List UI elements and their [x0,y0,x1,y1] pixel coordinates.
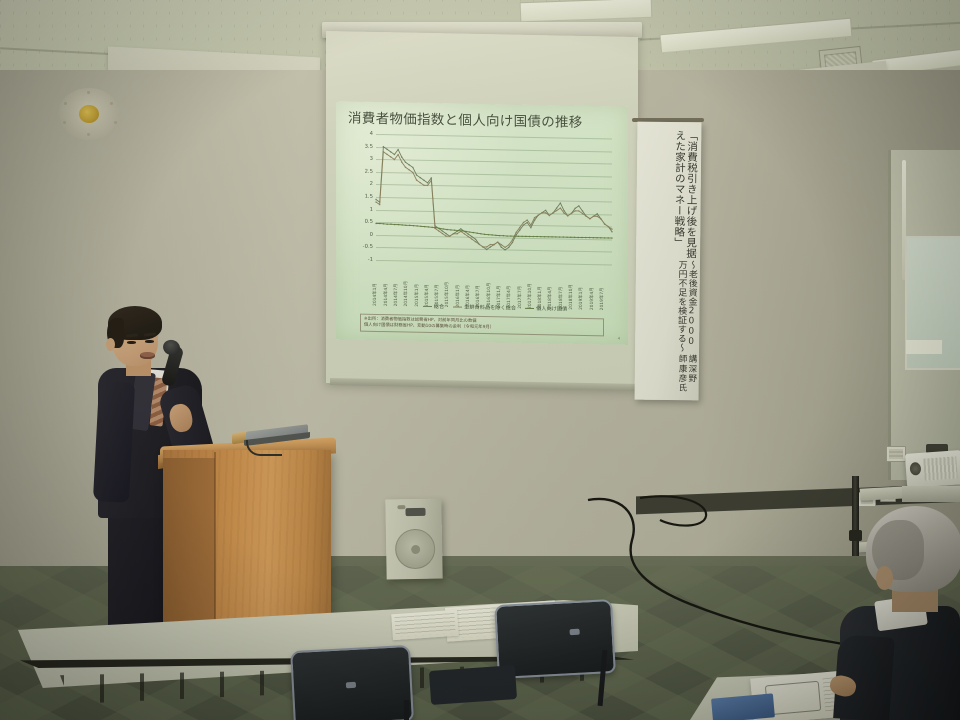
chart-marker [423,184,425,186]
chart-marker [607,237,609,239]
chart-marker [442,230,444,232]
chart-marker [390,151,392,153]
banner-speaker-name: 深野 康彦氏 [638,364,696,395]
chart-marker [413,225,415,227]
event-banner: 「消費税引き上げ後を見据えた家計のマネー戦略」 〜老後資金2000万円不足を検証… [635,122,702,401]
chart-y-tick-label: 0.5 [365,219,373,225]
chart-marker [471,238,473,240]
chart-marker [467,233,469,235]
chart-marker [480,233,482,235]
handout-paper[interactable] [391,610,459,641]
chart-marker [491,234,493,236]
chart-marker [419,177,421,179]
chart-marker [611,228,613,230]
wall-clock [58,88,120,140]
chart-y-tick-label: 2.5 [365,169,373,175]
legend-swatch [453,306,462,308]
door-sign [906,340,942,354]
projector-lens [910,462,922,476]
chart-marker [469,231,471,233]
chart-marker [473,232,475,234]
pa-speaker-handle [397,505,405,509]
clock-face [79,105,99,123]
audience-member-ear [876,566,893,590]
chart-marker [379,223,381,225]
pa-speaker-port [405,508,425,516]
chart-marker [510,235,512,237]
projector-vents [923,456,957,480]
chart-marker [383,146,385,148]
chart-line-個人向け国債 [376,223,612,238]
chart-marker [420,225,422,227]
chart-marker [431,226,433,228]
chart-legend-item: 個人向け国債 [525,305,567,313]
wall-outlet[interactable] [886,446,906,462]
chart-marker [412,167,414,169]
banner-text-block: 「消費税引き上げ後を見据えた家計のマネー戦略」 〜老後資金2000万円不足を検証… [635,122,702,401]
legend-label: 個人向け国債 [536,305,567,313]
chart-marker [521,235,523,237]
chart-marker [604,237,606,239]
banner-speaker-label: 講師 [638,354,696,365]
legend-swatch [525,308,534,310]
projector-stand [902,486,960,502]
chart-marker [566,236,568,238]
chart-marker [416,179,418,181]
chart-y-tick-label: 3 [370,156,373,162]
chart-legend-item: 総合 [423,303,444,310]
chart-marker [600,218,602,220]
chart-marker [482,246,484,248]
chart-marker [438,230,440,232]
chart-marker [582,213,584,215]
chart-marker [585,237,587,239]
chart-marker [405,166,407,168]
chart-marker [495,234,497,236]
chart-plot-area: -1-0.500.511.522.533.54 [376,134,612,265]
chart-y-tick-label: 3.5 [365,143,373,149]
chart-marker [600,237,602,239]
chart-marker [416,174,418,176]
legend-label: 総合 [434,303,444,310]
chart-marker [475,238,477,240]
chart-marker [529,236,531,238]
presenter-eye [145,340,154,343]
chart-marker [582,210,584,212]
chart-marker [428,226,430,228]
chart-marker [518,235,520,237]
chart-marker [424,226,426,228]
chart-marker [423,179,425,181]
chart-marker [577,237,579,239]
chart-marker [401,224,403,226]
chair-label [346,682,356,689]
chart-marker [501,246,503,248]
seminar-room-photo: 消費者物価指数と個人向け国債の推移 -1-0.500.511.522.533.5… [0,0,960,720]
chart-y-tick-label: 1.5 [365,194,373,200]
projected-slide: 消費者物価指数と個人向け国債の推移 -1-0.500.511.522.533.5… [336,101,628,345]
chart-marker [412,172,414,174]
chart-marker [401,161,403,163]
legend-swatch [423,306,432,308]
chart-marker [533,236,535,238]
chart-marker [375,223,377,225]
chair-label [570,629,580,636]
chart-marker [476,232,478,234]
chart-marker [408,169,410,171]
chart-legend-item: 生鮮食料品を除く総合 [453,303,516,311]
chart-marker [390,223,392,225]
chart-marker [386,154,388,156]
chart-marker [555,236,557,238]
chart-marker [604,223,606,225]
chart-marker [484,234,486,236]
chart-marker [499,235,501,237]
banner-headline: 「消費税引き上げ後を見据えた家計のマネー戦略」 [639,130,698,260]
floor-cable [580,492,880,682]
chart-marker [390,156,392,158]
pa-speaker-cone [395,529,436,570]
chart-marker [608,226,610,228]
chart-marker [454,229,456,231]
microphone-cable [246,440,282,456]
paper-text-lines [394,613,455,637]
chart-marker [540,236,542,238]
chart-marker [386,223,388,225]
chart-series-layer [376,134,612,265]
presenter-eye [127,341,136,344]
chart-marker [559,236,561,238]
chart-marker [445,235,447,237]
chart-marker [548,236,550,238]
chart-x-tick-label: 2014年1月 [372,283,378,306]
chart-y-tick-label: 2 [370,181,373,187]
chart-marker [409,225,411,227]
chart-marker [443,228,445,230]
chart-marker [544,236,546,238]
chart-marker [446,229,448,231]
chart-marker [445,233,447,235]
chart-marker [574,237,576,239]
chart-marker [383,223,385,225]
slide-source-note: ※出所：消費者物価指数は総務省HP、対前年同月比の数値 個人向け国債は財務省HP… [360,314,604,337]
chart-y-tick-label: 4 [370,131,373,137]
chart-marker [611,237,613,239]
pa-speaker-box [385,499,442,580]
blue-folder[interactable] [711,693,775,720]
chart-marker [589,237,591,239]
presenter-left-arm [93,381,135,503]
chart-marker [578,210,580,212]
chart-marker [596,216,598,218]
slide-page-number: 4 [618,336,620,341]
chart-marker [475,241,477,243]
chart-marker [545,212,547,214]
chair-seat[interactable] [429,665,517,705]
chart-marker [471,236,473,238]
chart-marker [375,199,377,201]
chart-marker [419,182,421,184]
chart-marker [416,225,418,227]
chart-line-総合 [376,147,612,252]
chart-marker [464,233,466,235]
chart-marker [408,164,410,166]
chart-marker [488,234,490,236]
chart-marker [442,233,444,235]
chair-leg [404,700,409,720]
presenter-mouth [140,352,155,359]
chart-marker [501,244,503,246]
chart-y-tick-label: 1 [370,206,373,212]
chart-marker [551,236,553,238]
chart-marker [563,212,565,214]
chart-y-tick-label: 0 [370,232,373,238]
chart-marker [581,237,583,239]
chart-marker [506,235,508,237]
chart-y-tick-label: -0.5 [363,244,373,250]
chart-marker [405,161,407,163]
chart-marker [478,243,480,245]
chart-marker [386,148,388,150]
banner-subline: 〜老後資金2000万円不足を検証する〜 [638,259,697,354]
chart-marker [563,210,565,212]
legend-label: 生鮮食料品を除く総合 [464,304,516,312]
chart-marker [592,237,594,239]
chart-marker [394,224,396,226]
chart-marker [379,204,381,206]
chart-marker [525,236,527,238]
chart-marker [570,236,572,238]
projector [905,450,960,488]
chair[interactable] [290,645,414,720]
chart-y-tick-label: -1 [368,257,373,263]
chart-marker [398,224,400,226]
chart-marker [375,201,377,203]
chart-marker [585,215,587,217]
chart-marker [450,229,452,231]
chart-marker [401,156,403,158]
chart-marker [503,235,505,237]
chart-marker [563,236,565,238]
presenter-ear [106,338,115,351]
chart-marker [467,236,469,238]
chart-marker [405,224,407,226]
chart-marker [596,237,598,239]
chart-marker [536,236,538,238]
chart-marker [611,231,613,233]
